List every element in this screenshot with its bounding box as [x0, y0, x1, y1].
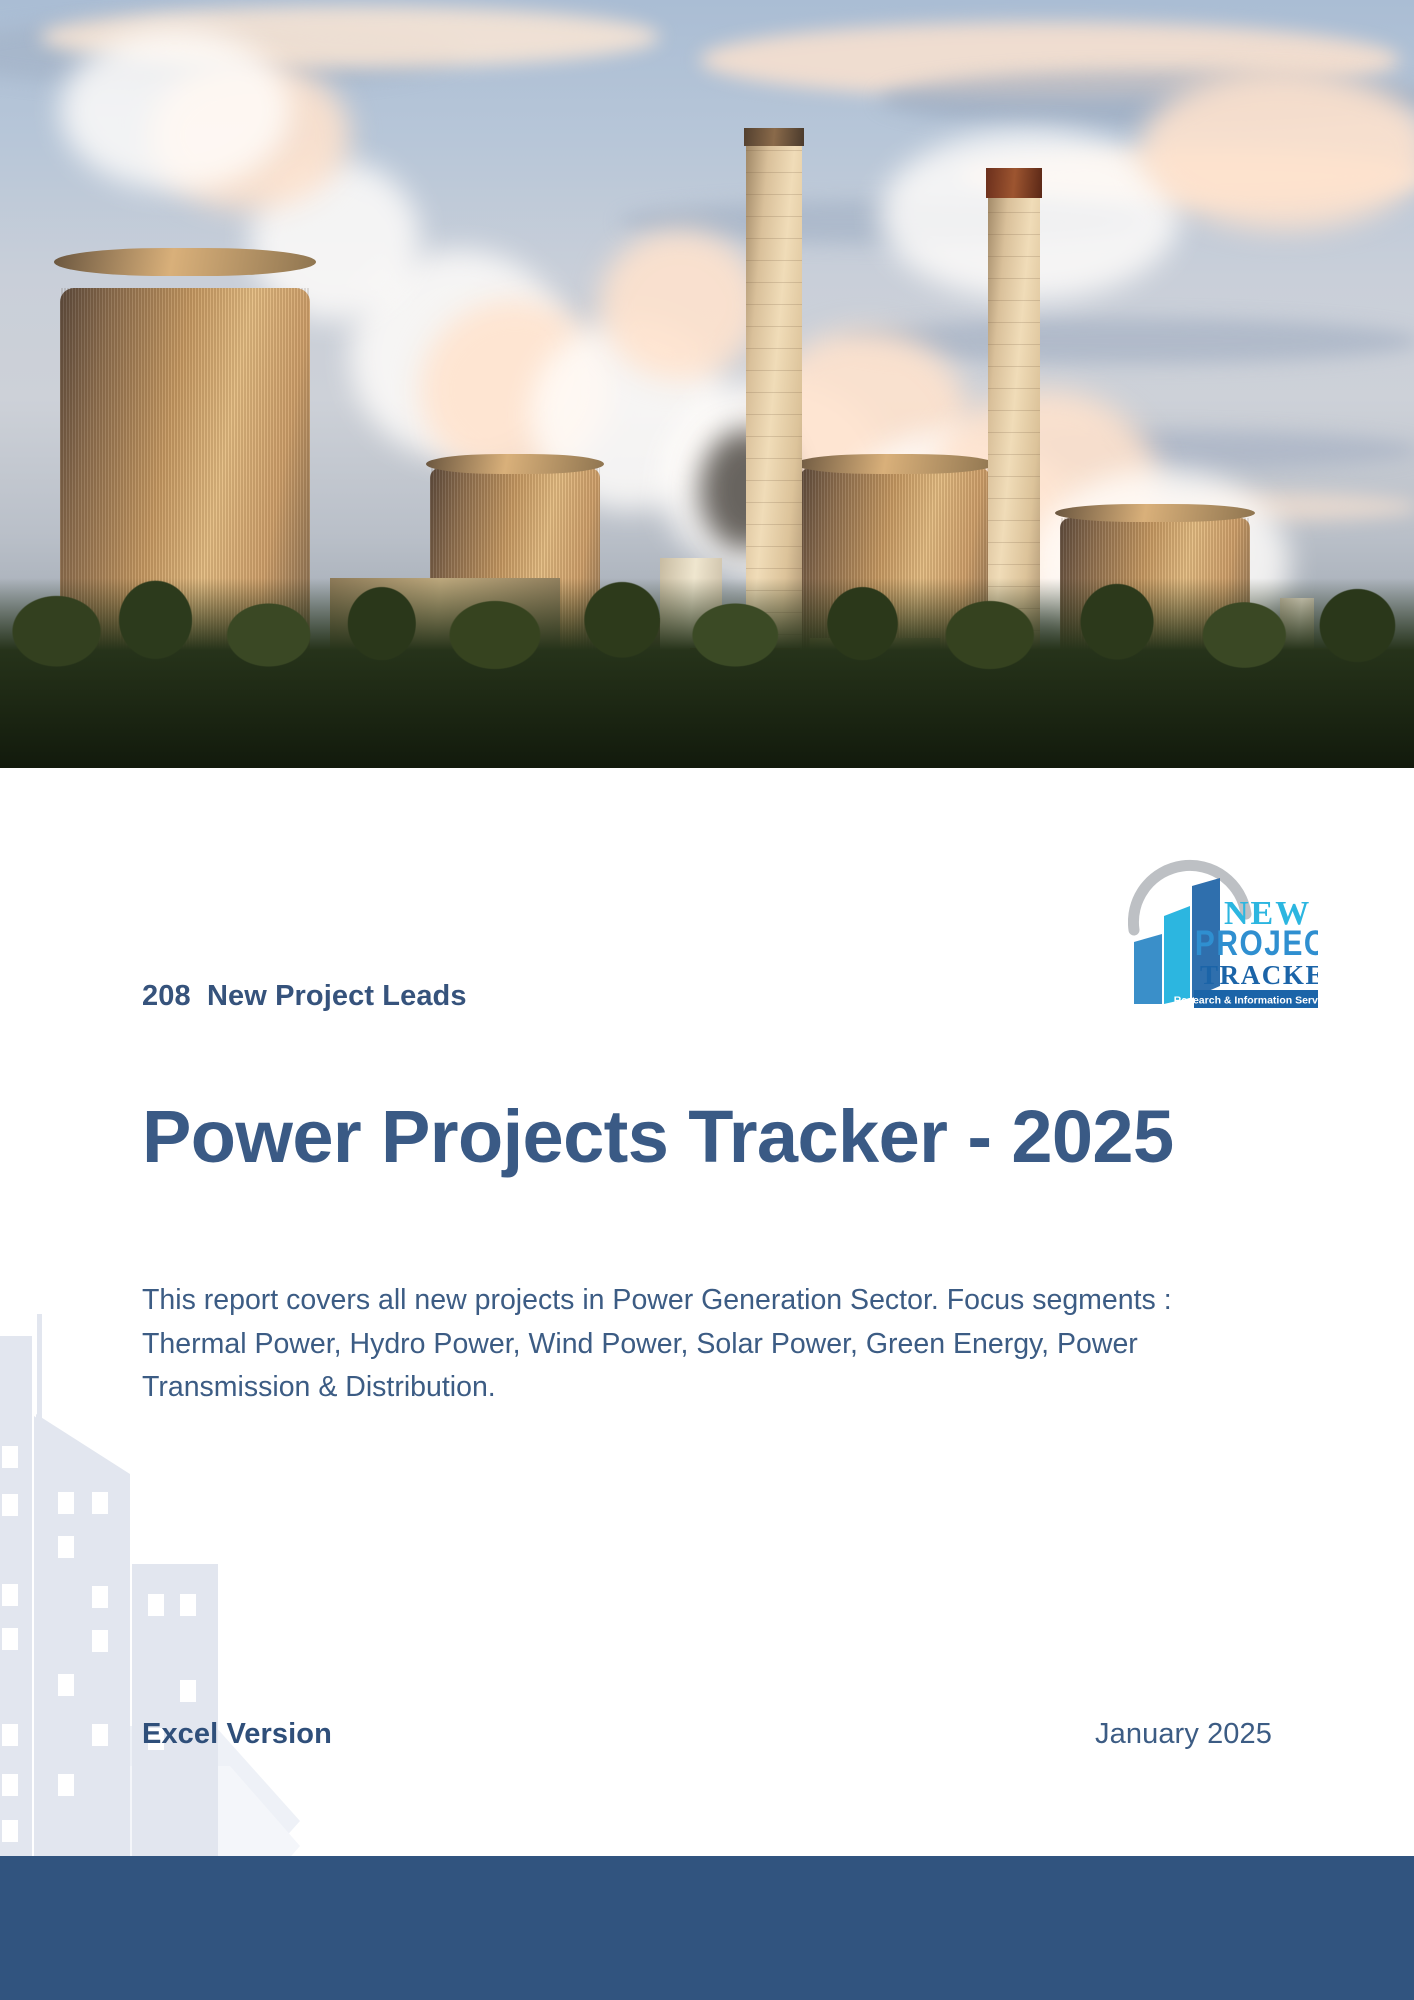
steam-plume-icon: [60, 30, 290, 190]
cooling-tower-rim-icon: [795, 454, 995, 474]
report-cover-page: NEW PROJECTS TRACKER Research & Informat…: [0, 0, 1414, 2000]
cooling-tower-rim-icon: [426, 454, 604, 474]
report-description: This report covers all new projects in P…: [142, 1279, 1252, 1409]
bottom-accent-bar: [0, 1856, 1414, 2000]
cooling-tower-rim-icon: [1055, 504, 1255, 522]
hero-photo-power-plant: [0, 0, 1414, 768]
steam-plume-icon: [600, 230, 760, 380]
smokestack-cap-icon: [986, 168, 1042, 198]
treeline-icon: [0, 578, 1414, 768]
lead-count-label: New Project Leads: [207, 980, 467, 1012]
steam-plume-icon: [1140, 70, 1414, 230]
page-title: Power Projects Tracker - 2025: [142, 1095, 1242, 1179]
cover-content: 208 New Project Leads Power Projects Tra…: [142, 980, 1282, 1409]
cover-footer: Excel Version January 2025: [142, 1718, 1272, 1751]
edition-label: Excel Version: [142, 1718, 332, 1751]
report-date-label: January 2025: [1095, 1718, 1272, 1751]
cooling-tower-rim-icon: [54, 248, 316, 276]
logo-text-projects: PROJECTS: [1195, 923, 1318, 963]
smokestack-cap-icon: [744, 128, 804, 146]
lead-count-value: 208: [142, 980, 191, 1012]
lead-count-heading: 208 New Project Leads: [142, 980, 1282, 1013]
